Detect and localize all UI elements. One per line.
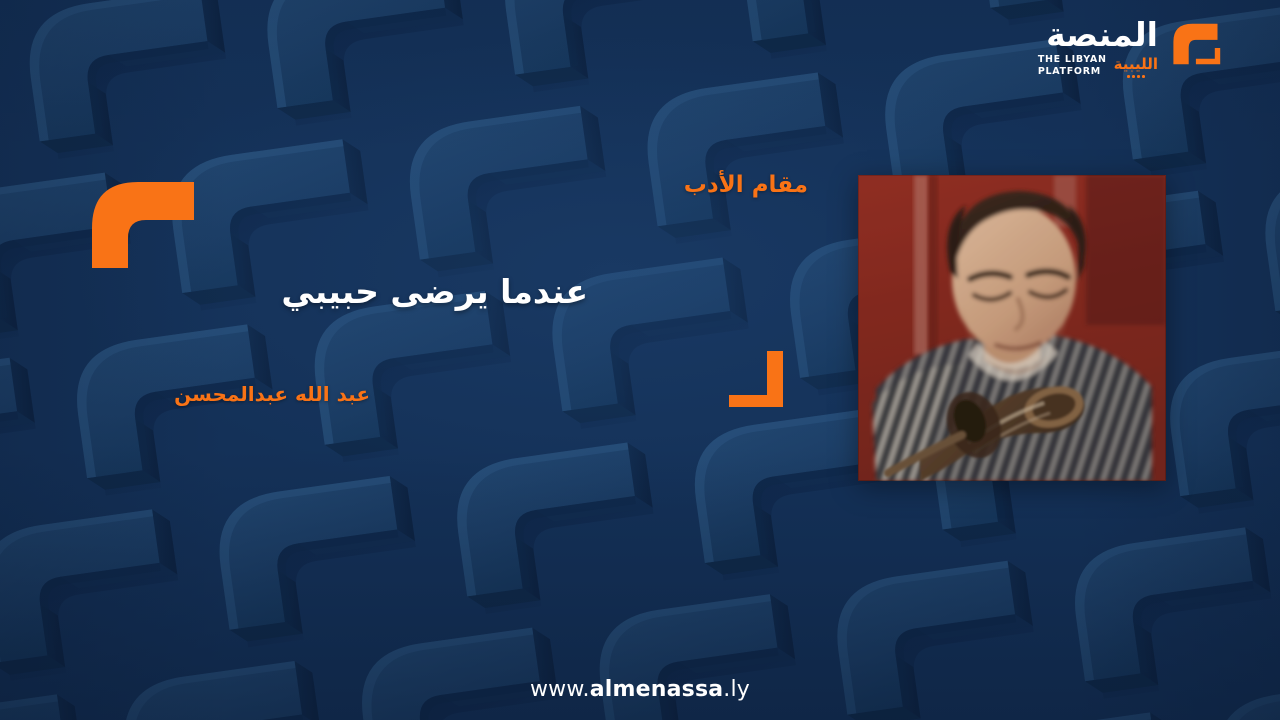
almenassa-hook-mark-icon xyxy=(1168,21,1222,75)
brand-logo-text: المنصة THE LIBYAN PLATFORM الليبية xyxy=(1038,18,1158,78)
brand-name-english: THE LIBYAN PLATFORM xyxy=(1038,54,1107,77)
brand-logo[interactable]: المنصة THE LIBYAN PLATFORM الليبية xyxy=(1038,18,1222,78)
brand-sub-wrap: الليبية xyxy=(1114,54,1158,78)
brand-dots-decoration xyxy=(1114,75,1158,78)
footer-url-prefix: www. xyxy=(530,677,590,702)
orange-hook-small-icon xyxy=(727,349,793,407)
category-label: مقام الأدب xyxy=(0,172,808,198)
featured-photo xyxy=(858,175,1166,481)
footer-website-url[interactable]: www.almenassa.ly xyxy=(0,677,1280,702)
brand-name-english-line2: PLATFORM xyxy=(1038,66,1107,78)
brand-name-english-line1: THE LIBYAN xyxy=(1038,54,1107,66)
footer-url-suffix: .ly xyxy=(723,677,750,702)
author-name: عبد الله عبدالمحسن xyxy=(0,382,370,406)
footer-url-name: almenassa xyxy=(590,677,724,702)
brand-logo-sub-row: THE LIBYAN PLATFORM الليبية xyxy=(1038,54,1158,78)
poster-canvas: المنصة THE LIBYAN PLATFORM الليبية xyxy=(0,0,1280,720)
brand-name-arabic-sub: الليبية xyxy=(1114,55,1158,73)
page-title: عندما يرضى حبيبي xyxy=(0,272,588,311)
brand-logo-main-row: المنصة xyxy=(1046,18,1158,51)
brand-name-arabic: المنصة xyxy=(1046,18,1158,51)
